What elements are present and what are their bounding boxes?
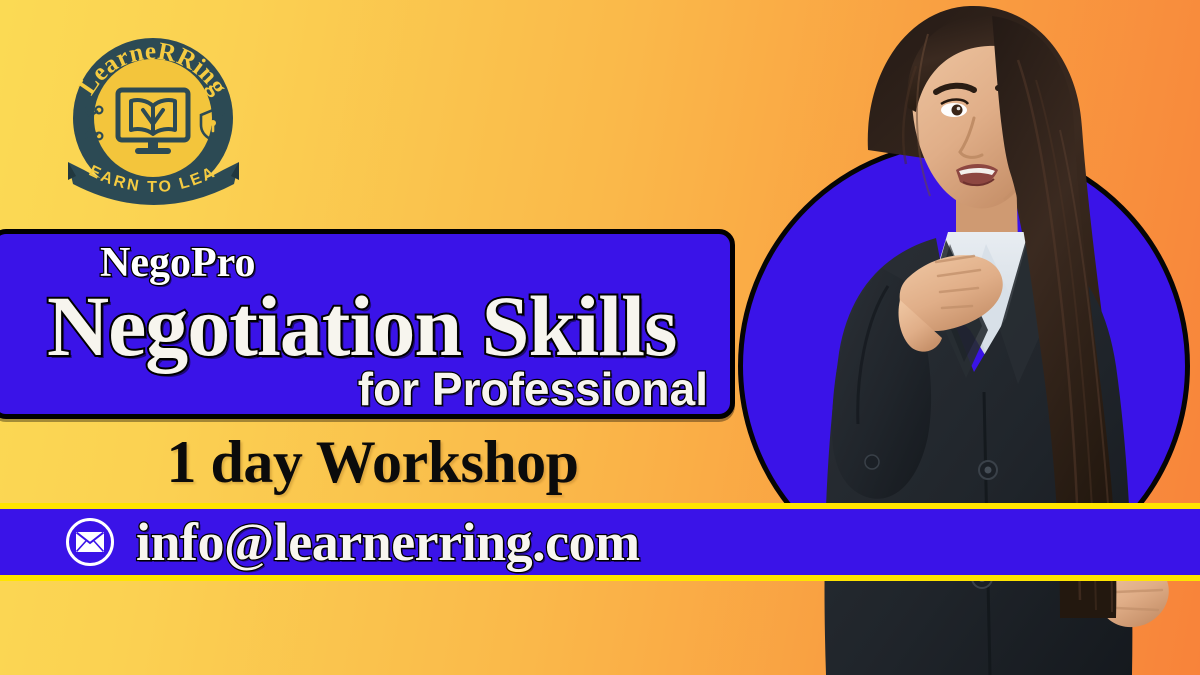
workshop-duration: 1 day Workshop: [0, 428, 745, 497]
contact-content: info@learnerring.com: [66, 509, 640, 575]
monitor-book-sun-icon: [109, 74, 197, 160]
shield-icon: [198, 108, 228, 142]
course-subhead: for Professional: [358, 362, 708, 416]
network-node-icon: [74, 104, 104, 142]
course-headline: Negotiation Skills: [47, 276, 676, 376]
contact-bar: info@learnerring.com: [0, 503, 1200, 581]
promotional-banner: LearneRRing: [0, 0, 1200, 675]
logo-ribbon: LEARN TO LEAD: [66, 150, 241, 214]
title-panel: NegoPro Negotiation Skills for Professio…: [0, 229, 735, 419]
brand-logo: LearneRRing: [62, 32, 244, 214]
contact-email: info@learnerring.com: [136, 511, 640, 573]
envelope-icon: [66, 518, 114, 566]
